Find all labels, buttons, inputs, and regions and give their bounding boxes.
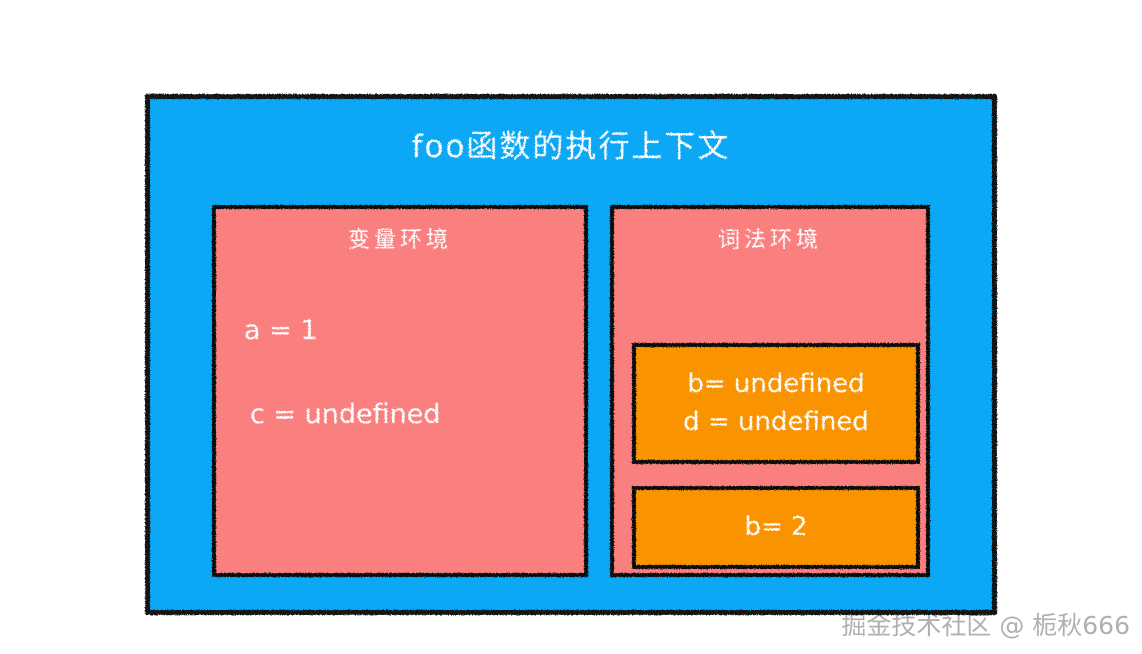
variable-environment-panel: 变量环境 a = 1 c = undefined xyxy=(212,205,588,577)
lexical-binding-box-undefined: b= undefined d = undefined xyxy=(632,343,920,464)
lexical-binding-b-undefined: b= undefined xyxy=(687,366,864,404)
lexical-binding-d-undefined: d = undefined xyxy=(683,404,869,442)
variable-environment-title: 变量环境 xyxy=(216,222,584,254)
variable-entry-c: c = undefined xyxy=(250,399,440,430)
lexical-binding-b-2: b= 2 xyxy=(744,509,807,547)
execution-context-container: foo函数的执行上下文 变量环境 a = 1 c = undefined 词法环… xyxy=(145,94,997,615)
lexical-binding-box-b-assigned: b= 2 xyxy=(632,486,920,569)
variable-entry-a: a = 1 xyxy=(244,315,318,346)
watermark: 掘金技术社区 @ 栀秋666 xyxy=(841,606,1130,642)
lexical-environment-title: 词法环境 xyxy=(614,222,926,254)
lexical-environment-panel: 词法环境 b= undefined d = undefined b= 2 xyxy=(610,205,930,577)
execution-context-title: foo函数的执行上下文 xyxy=(150,121,992,166)
